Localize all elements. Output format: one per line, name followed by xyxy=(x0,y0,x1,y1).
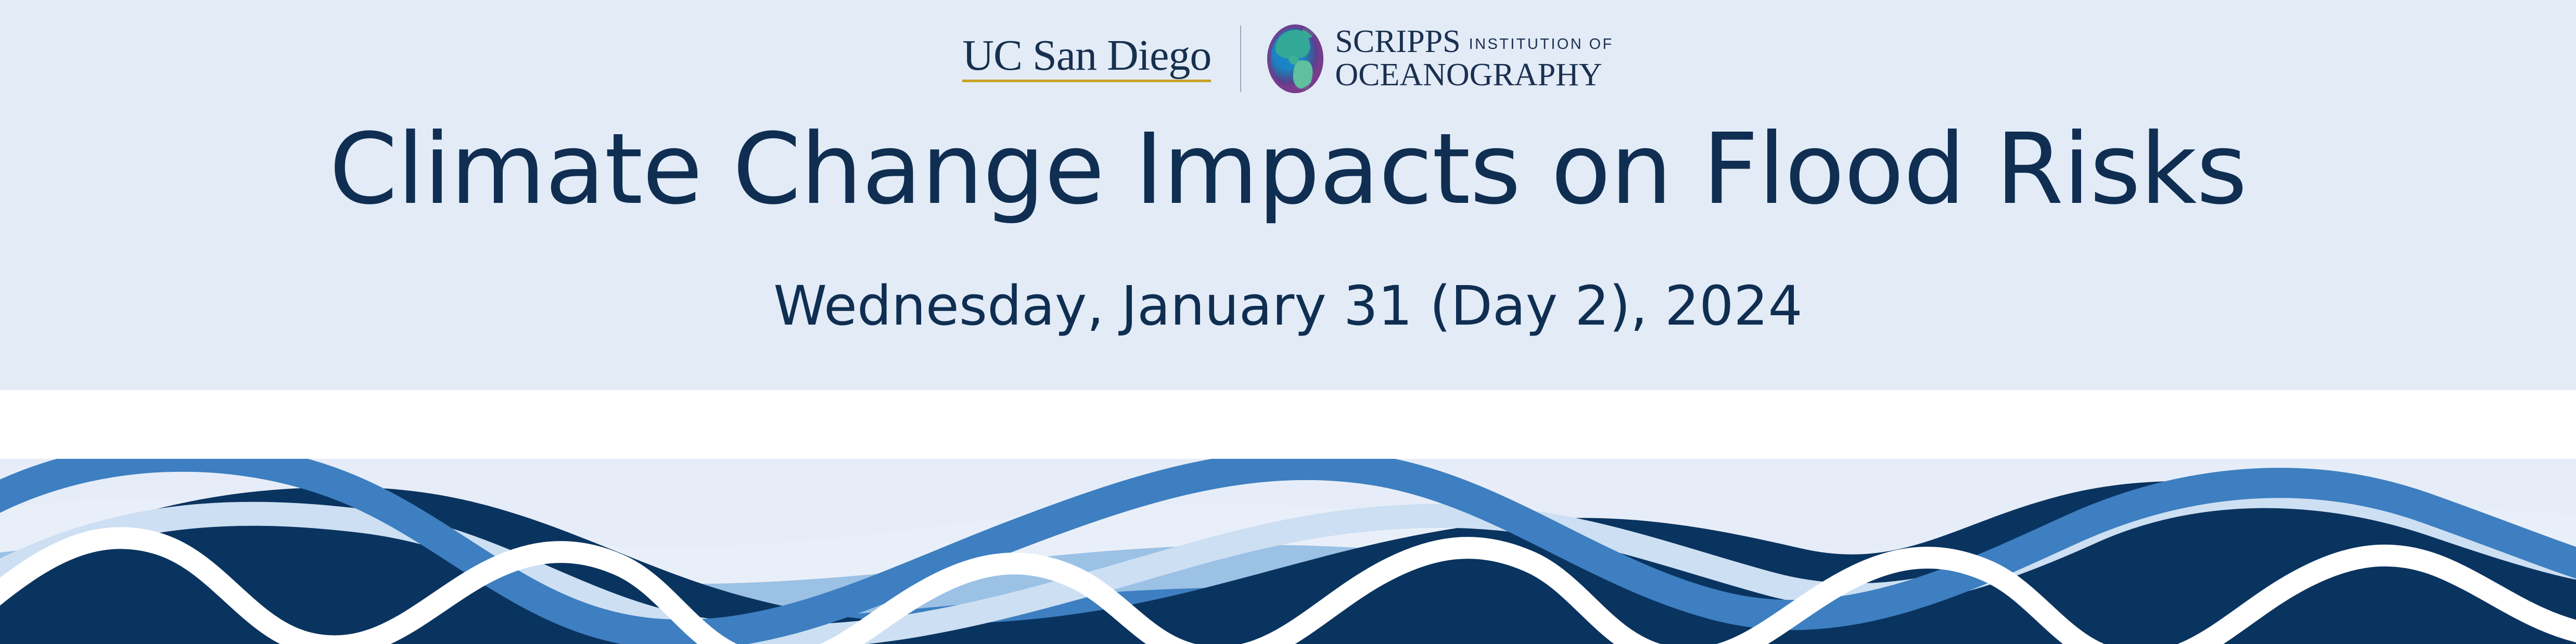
uc-san-diego-gold-rule xyxy=(962,80,1211,82)
globe-icon xyxy=(1267,24,1323,93)
wave-svg xyxy=(0,459,2576,644)
page-subtitle: Wednesday, January 31 (Day 2), 2024 xyxy=(0,279,2576,333)
scripps-oceanography-label: OCEANOGRAPHY xyxy=(1335,59,1613,92)
wave-decoration xyxy=(0,459,2576,644)
scripps-institution-of-label: INSTITUTION OF xyxy=(1469,36,1614,53)
uc-san-diego-logo[interactable]: UC San Diego xyxy=(962,35,1240,82)
uc-san-diego-wordmark: UC San Diego xyxy=(962,35,1211,75)
page-title: Climate Change Impacts on Flood Risks xyxy=(0,121,2576,218)
scripps-wordmark: SCRIPPS INSTITUTION OF OCEANOGRAPHY xyxy=(1335,25,1613,92)
scripps-logo[interactable]: SCRIPPS INSTITUTION OF OCEANOGRAPHY xyxy=(1241,24,1613,93)
white-separator xyxy=(0,390,2576,459)
scripps-name: SCRIPPS xyxy=(1335,25,1460,58)
header-banner: UC San Diego SCRIPPS INSTITUTION OF OCEA… xyxy=(0,0,2576,390)
logo-lockup: UC San Diego SCRIPPS INSTITUTION OF OCEA… xyxy=(0,20,2576,98)
